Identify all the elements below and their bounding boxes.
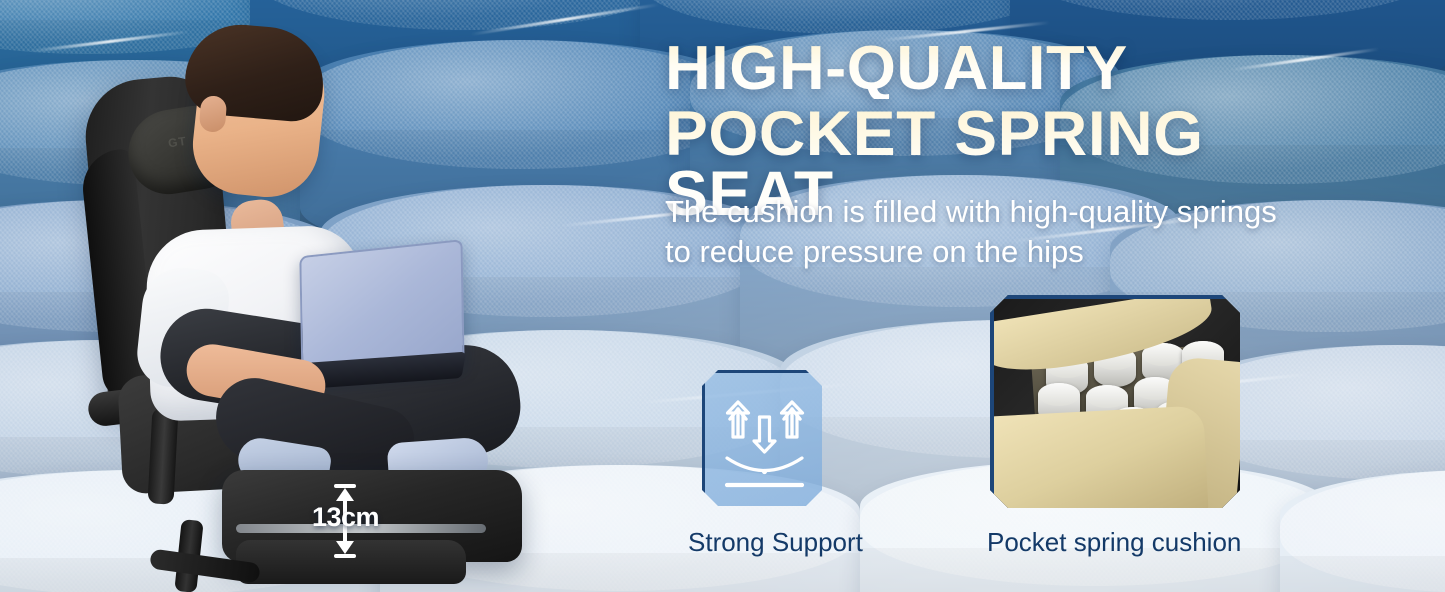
subtitle-line-1: The cushion is filled with high-quality … — [665, 192, 1405, 232]
cushion-foam-body — [990, 405, 1209, 516]
feature-caption-pocket-spring-cushion: Pocket spring cushion — [987, 527, 1241, 558]
chair-arm-post — [148, 407, 179, 504]
feature-caption-strong-support: Strong Support — [688, 527, 863, 558]
feature-card-strong-support — [702, 370, 828, 512]
thickness-label: 13cm — [312, 502, 379, 533]
arrow-down-icon — [336, 541, 354, 554]
subtitle-line-2: to reduce pressure on the hips — [665, 232, 1405, 272]
feature-card-pocket-spring-cushion — [990, 295, 1248, 516]
arrow-up-icon — [336, 488, 354, 501]
promo-banner: GT 13cm HIGH-QUALITY POCKET SPR — [0, 0, 1445, 592]
subtitle: The cushion is filled with high-quality … — [665, 192, 1405, 271]
heading-line-1: HIGH-QUALITY — [665, 40, 1379, 99]
support-arrows-icon — [705, 373, 825, 509]
